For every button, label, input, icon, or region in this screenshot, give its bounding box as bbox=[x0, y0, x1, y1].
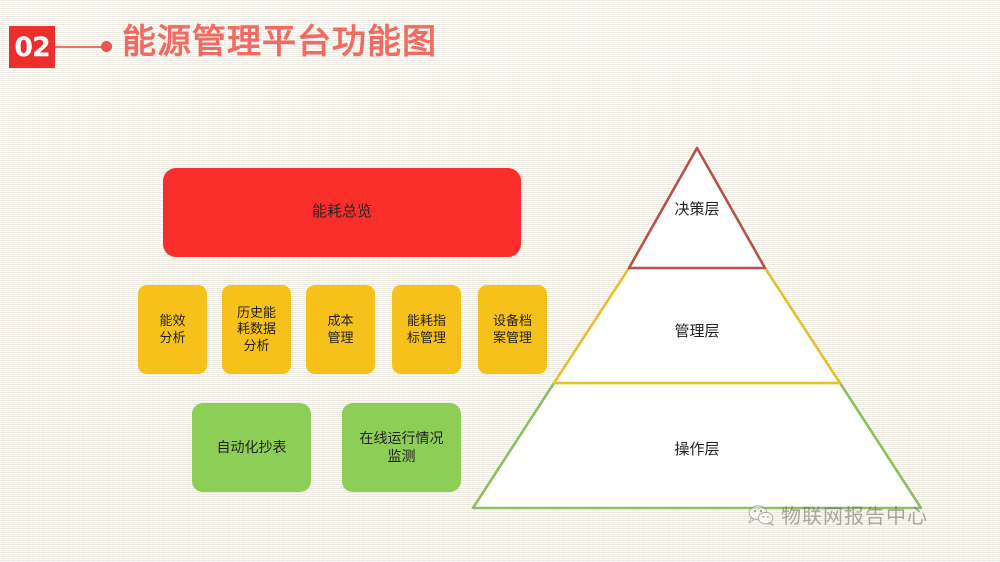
pyramid-label-management: 管理层 bbox=[462, 320, 932, 341]
feature-node-historical-energy-data-analysis[interactable]: 历史能 耗数据 分析 bbox=[222, 285, 291, 374]
section-number-badge: 02 bbox=[9, 26, 55, 68]
pyramid-diagram: 决策层 管理层 操作层 bbox=[462, 138, 932, 523]
slide-canvas: 02 能源管理平台功能图 能耗总览 能效 分析 历史能 耗数据 分析 成本 管理… bbox=[0, 0, 1000, 562]
feature-node-energy-efficiency-analysis[interactable]: 能效 分析 bbox=[138, 285, 207, 374]
slide-header: 02 能源管理平台功能图 bbox=[0, 0, 1000, 100]
watermark-text: 物联网报告中心 bbox=[781, 500, 928, 529]
header-connector-line bbox=[55, 46, 105, 48]
page-title: 能源管理平台功能图 bbox=[122, 21, 437, 63]
feature-node-online-operation-monitoring[interactable]: 在线运行情况 监测 bbox=[342, 403, 461, 492]
pyramid-label-decision: 决策层 bbox=[462, 198, 932, 219]
wechat-icon bbox=[748, 504, 774, 526]
feature-node-energy-indicator-management[interactable]: 能耗指 标管理 bbox=[392, 285, 461, 374]
header-connector-dot-icon bbox=[101, 41, 112, 52]
feature-node-cost-management[interactable]: 成本 管理 bbox=[306, 285, 375, 374]
pyramid-label-operation: 操作层 bbox=[462, 438, 932, 459]
feature-node-automatic-meter-reading[interactable]: 自动化抄表 bbox=[192, 403, 311, 492]
watermark: 物联网报告中心 bbox=[748, 500, 928, 529]
